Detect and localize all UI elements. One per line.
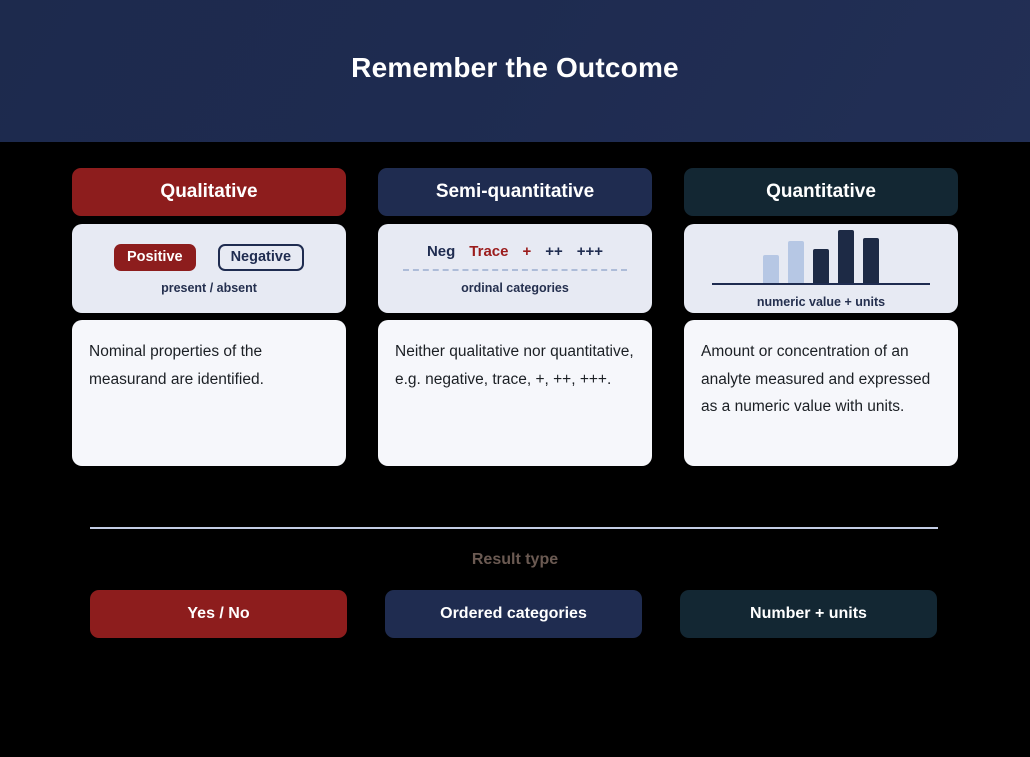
chart-bar-5 bbox=[863, 238, 879, 283]
mini-bar-chart bbox=[694, 227, 948, 285]
scale-item-neg: Neg bbox=[427, 243, 455, 260]
page-title: Remember the Outcome bbox=[351, 52, 679, 84]
result-pill-ordered-categories[interactable]: Ordered categories bbox=[385, 590, 642, 638]
caption-qualitative: present / absent bbox=[161, 281, 257, 295]
result-pill-label: Ordered categories bbox=[440, 605, 587, 623]
chart-baseline-axis bbox=[712, 283, 930, 285]
result-pill-yes-no[interactable]: Yes / No bbox=[90, 590, 347, 638]
chart-bar-2 bbox=[788, 241, 804, 283]
chip-row: Positive Negative bbox=[114, 244, 304, 271]
column-header-quantitative[interactable]: Quantitative bbox=[684, 168, 958, 216]
scale-item-plus-plus: ++ bbox=[545, 243, 563, 260]
chip-negative[interactable]: Negative bbox=[218, 244, 304, 271]
chart-bars bbox=[763, 227, 879, 283]
chart-bar-3 bbox=[813, 249, 829, 283]
caption-quantitative: numeric value + units bbox=[757, 295, 885, 309]
result-pill-number-units[interactable]: Number + units bbox=[680, 590, 937, 638]
column-semi-quantitative: Semi-quantitative Neg Trace + ++ +++ ord… bbox=[378, 168, 652, 466]
column-qualitative: Qualitative Positive Negative present / … bbox=[72, 168, 346, 466]
description-card-qualitative: Nominal properties of the measurand are … bbox=[72, 320, 346, 466]
ordinal-scale-dashed-line bbox=[403, 269, 627, 271]
caption-semi-quantitative: ordinal categories bbox=[461, 281, 569, 295]
column-header-label: Qualitative bbox=[160, 181, 257, 203]
result-type-pills: Yes / No Ordered categories Number + uni… bbox=[90, 590, 938, 638]
description-card-semi-quantitative: Neither qualitative nor quantitative, e.… bbox=[378, 320, 652, 466]
chart-bar-1 bbox=[763, 255, 779, 283]
column-header-semi-quantitative[interactable]: Semi-quantitative bbox=[378, 168, 652, 216]
ordinal-scale: Neg Trace + ++ +++ bbox=[388, 243, 642, 271]
ordinal-scale-row: Neg Trace + ++ +++ bbox=[427, 243, 603, 260]
column-header-qualitative[interactable]: Qualitative bbox=[72, 168, 346, 216]
chip-positive[interactable]: Positive bbox=[114, 244, 196, 271]
result-type-label: Result type bbox=[0, 551, 1030, 569]
visual-card-qualitative: Positive Negative present / absent bbox=[72, 224, 346, 313]
visual-card-semi-quantitative: Neg Trace + ++ +++ ordinal categories bbox=[378, 224, 652, 313]
chart-bar-4 bbox=[838, 230, 854, 283]
column-header-label: Semi-quantitative bbox=[436, 181, 594, 203]
description-card-quantitative: Amount or concentration of an analyte me… bbox=[684, 320, 958, 466]
result-pill-label: Yes / No bbox=[187, 605, 249, 623]
comparison-columns: Qualitative Positive Negative present / … bbox=[72, 168, 958, 466]
column-quantitative: Quantitative numeric value + units Amoun… bbox=[684, 168, 958, 466]
section-divider bbox=[90, 527, 938, 529]
scale-item-trace: Trace bbox=[469, 243, 508, 260]
visual-card-quantitative: numeric value + units bbox=[684, 224, 958, 313]
header-band: Remember the Outcome bbox=[0, 0, 1030, 142]
scale-item-plus: + bbox=[522, 243, 531, 260]
column-header-label: Quantitative bbox=[766, 181, 876, 203]
result-pill-label: Number + units bbox=[750, 605, 867, 623]
scale-item-plus-plus-plus: +++ bbox=[577, 243, 603, 260]
